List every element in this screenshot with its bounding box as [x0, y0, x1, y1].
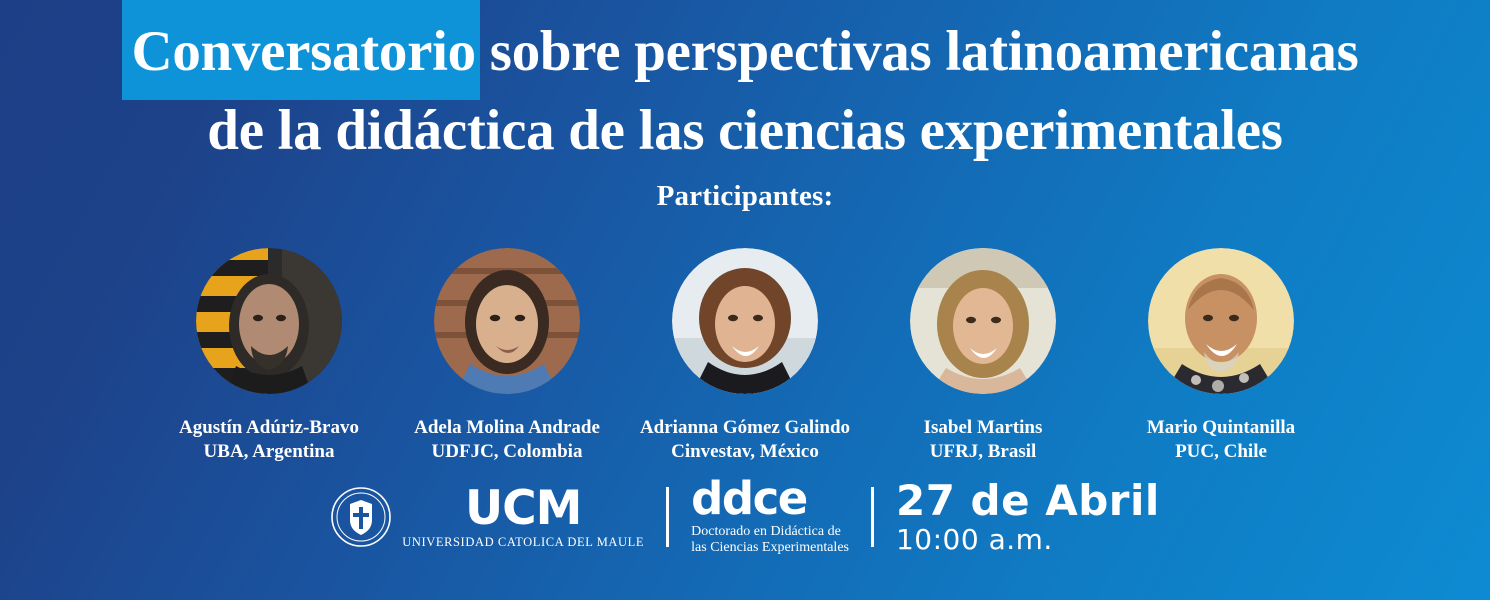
- portrait-adela-molina-andrade-icon: [434, 248, 580, 394]
- title-highlighted-word: Conversatorio: [131, 20, 475, 83]
- participant-card: Adela Molina Andrade UDFJC, Colombia: [388, 248, 626, 464]
- title-line-1-rest: sobre perspectivas latinoamericanas: [476, 20, 1359, 83]
- title-line-1: Conversatorio sobre perspectivas latinoa…: [0, 0, 1490, 104]
- participants-label: Participantes:: [0, 180, 1490, 213]
- participant-avatar: [672, 248, 818, 394]
- portrait-isabel-martins-icon: [910, 248, 1056, 394]
- footer-divider-2: [871, 487, 874, 547]
- participant-name: Agustín Adúriz-Bravo: [179, 416, 359, 440]
- footer-divider-1: [666, 487, 669, 547]
- participant-avatar: [434, 248, 580, 394]
- ucm-wordmark: UCM: [465, 485, 581, 533]
- participant-name: Adrianna Gómez Galindo: [640, 416, 850, 440]
- portrait-agustin-aduriz-bravo-icon: [196, 248, 342, 394]
- participant-card: Adrianna Gómez Galindo Cinvestav, México: [626, 248, 864, 464]
- title-block: Conversatorio sobre perspectivas latinoa…: [0, 0, 1490, 164]
- participant-affiliation: UDFJC, Colombia: [432, 440, 583, 464]
- ddce-wordmark: ddce: [691, 478, 807, 520]
- participant-affiliation: PUC, Chile: [1175, 440, 1267, 464]
- portrait-mario-quintanilla-icon: [1148, 248, 1294, 394]
- participant-name: Isabel Martins: [924, 416, 1043, 440]
- participant-affiliation: Cinvestav, México: [671, 440, 819, 464]
- title-line-2: de la didáctica de las ciencias experime…: [0, 98, 1490, 164]
- ddce-logo: ddce Doctorado en Didáctica de las Cienc…: [691, 478, 849, 556]
- participants-row: Agustín Adúriz-Bravo UBA, Argentina: [0, 248, 1490, 464]
- participant-name: Adela Molina Andrade: [414, 416, 600, 440]
- event-banner: Conversatorio sobre perspectivas latinoa…: [0, 0, 1490, 600]
- footer: UCM UNIVERSIDAD CATOLICA DEL MAULE ddce …: [0, 472, 1490, 562]
- participant-card: Mario Quintanilla PUC, Chile: [1102, 248, 1340, 464]
- ddce-subtitle-line-1: Doctorado en Didáctica de: [691, 524, 841, 540]
- event-date: 27 de Abril: [896, 478, 1160, 524]
- participant-name: Mario Quintanilla: [1147, 416, 1295, 440]
- participant-avatar: [196, 248, 342, 394]
- event-datetime: 27 de Abril 10:00 a.m.: [896, 478, 1160, 556]
- participant-affiliation: UFRJ, Brasil: [930, 440, 1037, 464]
- portrait-adrianna-gomez-galindo-icon: [672, 248, 818, 394]
- ucm-logo: UCM UNIVERSIDAD CATOLICA DEL MAULE: [330, 485, 644, 550]
- participant-avatar: [910, 248, 1056, 394]
- participant-affiliation: UBA, Argentina: [204, 440, 335, 464]
- event-time: 10:00 a.m.: [896, 524, 1053, 556]
- ucm-crest-icon: [330, 486, 392, 548]
- ddce-subtitle-line-2: las Ciencias Experimentales: [691, 540, 849, 556]
- ucm-subtitle: UNIVERSIDAD CATOLICA DEL MAULE: [402, 534, 644, 550]
- participant-avatar: [1148, 248, 1294, 394]
- participant-card: Isabel Martins UFRJ, Brasil: [864, 248, 1102, 464]
- ucm-text-wrap: UCM UNIVERSIDAD CATOLICA DEL MAULE: [402, 485, 644, 550]
- participant-card: Agustín Adúriz-Bravo UBA, Argentina: [150, 248, 388, 464]
